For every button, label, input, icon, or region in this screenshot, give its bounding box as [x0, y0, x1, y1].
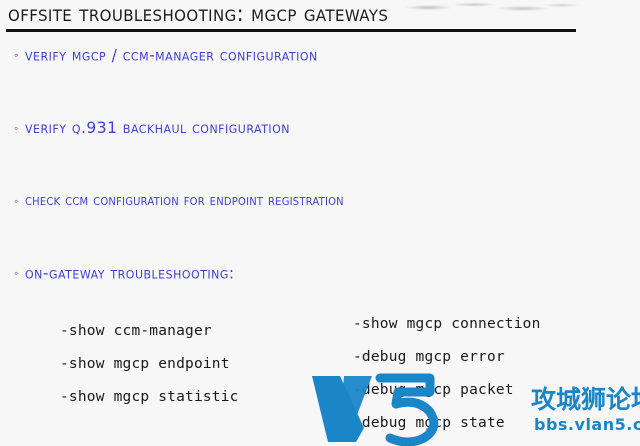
bullet-item-verify-mgcp-ccm-manager: ◦ Verify mgcp / ccm-manager configuratio…	[14, 44, 318, 66]
command-line: -show mgcp connection	[353, 308, 541, 341]
command-line: -debug mgcp packet	[353, 374, 541, 407]
bullet-label: On-gateway troubleshooting:	[25, 261, 235, 284]
bullet-item-check-ccm-configuration: ◦ Check CCM configuration for endpoint r…	[14, 190, 344, 212]
title-block: Offsite Troubleshooting: MGCP Gateways	[6, 0, 606, 33]
watermark-chinese-text: 攻城狮论坛	[531, 386, 640, 413]
bullet-circle-icon: ◦	[14, 262, 25, 284]
watermark-url: bbs.vlan5.com	[534, 416, 640, 434]
command-line: -show ccm-manager	[60, 315, 239, 348]
bullet-item-verify-q931-backhaul: ◦ Verify Q.931 backhaul configuration	[14, 117, 290, 139]
command-line: -show mgcp statistic	[60, 381, 239, 414]
eraser-smudge-mark	[404, 1, 579, 13]
bullet-circle-icon: ◦	[14, 117, 25, 139]
title-underline	[6, 29, 576, 32]
bullet-label: Verify Q.931 backhaul configuration	[25, 116, 290, 139]
bullet-label: Verify mgcp / ccm-manager configuration	[25, 43, 318, 66]
command-line: -debug mgcp error	[353, 341, 541, 374]
bullet-label: Check CCM configuration for endpoint reg…	[25, 189, 344, 212]
command-line: -show mgcp endpoint	[60, 348, 239, 381]
slide-canvas: Offsite Troubleshooting: MGCP Gateways ◦…	[0, 0, 640, 446]
command-line: -debug mgcp state	[353, 407, 541, 440]
bullet-item-on-gateway-troubleshooting: ◦ On-gateway troubleshooting:	[14, 262, 235, 284]
bullet-circle-icon: ◦	[14, 190, 25, 212]
command-list-left: -show ccm-manager -show mgcp endpoint -s…	[60, 315, 239, 414]
bullet-circle-icon: ◦	[14, 44, 25, 66]
page-title: Offsite Troubleshooting: MGCP Gateways	[8, 1, 388, 27]
command-list-right: -show mgcp connection -debug mgcp error …	[353, 308, 541, 440]
